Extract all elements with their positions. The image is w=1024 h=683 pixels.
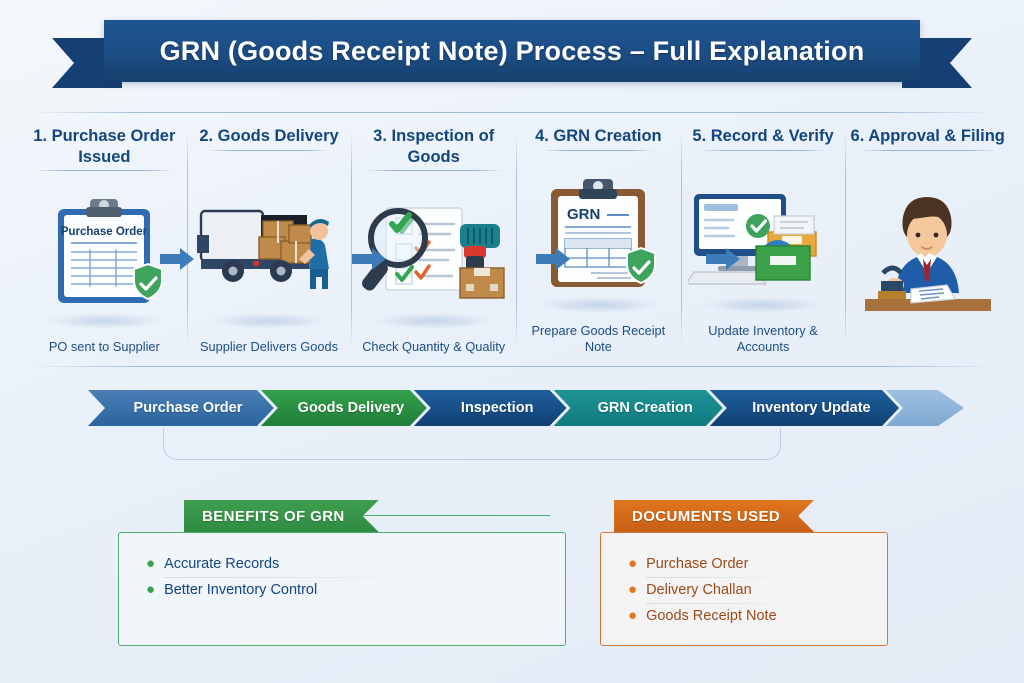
step-1-title: 1. Purchase Order Issued bbox=[26, 126, 183, 171]
cardboard-box bbox=[460, 268, 504, 298]
documents-panel: DOCUMENTS USED ● Purchase Order ● Delive… bbox=[600, 518, 888, 646]
step-arrow-1-to-2 bbox=[160, 248, 194, 270]
list-item: ● Delivery Challan bbox=[628, 578, 872, 604]
page-title: GRN (Goods Receipt Note) Process – Full … bbox=[160, 36, 865, 67]
clipboard-purchase-order-icon: Purchase Order bbox=[38, 197, 170, 309]
shadow-ellipse bbox=[208, 313, 330, 329]
divider-top bbox=[28, 112, 996, 113]
step-2-title: 2. Goods Delivery bbox=[199, 126, 338, 151]
chevron-label: GRN Creation bbox=[584, 400, 693, 416]
benefits-panel-tab: BENEFITS OF GRN bbox=[184, 500, 379, 532]
bullet-icon: ● bbox=[628, 556, 637, 571]
ribbon-body: GRN (Goods Receipt Note) Process – Full … bbox=[104, 20, 920, 82]
svg-text:Purchase Order: Purchase Order bbox=[61, 226, 148, 238]
title-banner: GRN (Goods Receipt Note) Process – Full … bbox=[52, 12, 972, 88]
delivery-truck-icon bbox=[193, 191, 345, 295]
list-item-label: Delivery Challan bbox=[646, 582, 752, 598]
step-arrow-4-to-5 bbox=[706, 248, 740, 270]
chevron-inspection[interactable]: Inspection bbox=[414, 390, 567, 426]
list-item-label: Goods Receipt Note bbox=[646, 608, 777, 624]
chevron-inventory-update[interactable]: Inventory Update bbox=[710, 390, 899, 426]
step-arrow-3-to-4 bbox=[536, 248, 570, 270]
step-6-illustration bbox=[849, 151, 1006, 350]
benefits-tab-label: BENEFITS OF GRN bbox=[202, 508, 345, 525]
keyboard bbox=[688, 272, 766, 284]
process-steps-row: 1. Purchase Order Issued Purchase Order bbox=[22, 126, 1010, 354]
divider-middle bbox=[28, 366, 996, 367]
list-item: ● Purchase Order bbox=[628, 552, 872, 578]
chevron-label: Purchase Order bbox=[120, 400, 243, 416]
step-1-caption: PO sent to Supplier bbox=[49, 335, 160, 354]
grn-doc-label: GRN bbox=[567, 206, 600, 223]
clipboard-grn-icon: GRN bbox=[531, 177, 665, 293]
step-4-illustration: GRN bbox=[520, 151, 677, 320]
step-4-grn-creation: 4. GRN Creation GRN bbox=[516, 126, 681, 354]
chevron-purchase-order[interactable]: Purchase Order bbox=[88, 390, 274, 426]
chevron-label: Goods Delivery bbox=[284, 400, 404, 416]
shadow-ellipse bbox=[537, 297, 659, 313]
filing-box-green bbox=[756, 240, 810, 280]
documents-list: ● Purchase Order ● Delivery Challan ● Go… bbox=[628, 552, 872, 630]
step-3-inspection-of-goods: 3. Inspection of Goods bbox=[351, 126, 516, 354]
step-6-title: 6. Approval & Filing bbox=[851, 126, 1005, 151]
step-2-goods-delivery: 2. Goods Delivery bbox=[187, 126, 352, 354]
list-item-label: Purchase Order bbox=[646, 556, 748, 572]
documents-panel-tab: DOCUMENTS USED bbox=[614, 500, 814, 532]
process-flow-chevrons: Purchase Order Goods Delivery Inspection… bbox=[88, 390, 964, 426]
benefits-panel: BENEFITS OF GRN ● Accurate Records ● Bet… bbox=[118, 518, 566, 646]
step-5-caption: Update Inventory & Accounts bbox=[685, 319, 842, 354]
monitor-filing-boxes-icon bbox=[688, 180, 838, 290]
list-item: ● Goods Receipt Note bbox=[628, 604, 872, 630]
step-2-illustration bbox=[191, 151, 348, 335]
chevron-label: Inspection bbox=[447, 400, 534, 416]
step-3-title: 3. Inspection of Goods bbox=[355, 126, 512, 171]
bullet-icon: ● bbox=[146, 556, 155, 571]
officer-stamping-icon bbox=[865, 189, 991, 311]
step-2-caption: Supplier Delivers Goods bbox=[200, 335, 338, 354]
step-3-caption: Check Quantity & Quality bbox=[362, 335, 505, 354]
step-4-caption: Prepare Goods Receipt Note bbox=[520, 319, 677, 354]
step-6-approval-and-filing: 6. Approval & Filing bbox=[845, 126, 1010, 354]
step-4-title: 4. GRN Creation bbox=[535, 126, 662, 151]
shadow-ellipse bbox=[43, 313, 165, 329]
list-item-label: Accurate Records bbox=[164, 556, 279, 572]
step-5-record-and-verify: 5. Record & Verify bbox=[681, 126, 846, 354]
flow-bracket-connector bbox=[163, 428, 781, 460]
chevron-grn-creation[interactable]: GRN Creation bbox=[554, 390, 723, 426]
list-item-label: Better Inventory Control bbox=[164, 582, 317, 598]
documents-tab-label: DOCUMENTS USED bbox=[632, 508, 780, 525]
step-1-purchase-order-issued: 1. Purchase Order Issued Purchase Order bbox=[22, 126, 187, 354]
chevron-goods-delivery[interactable]: Goods Delivery bbox=[261, 390, 427, 426]
list-item: ● Better Inventory Control bbox=[146, 578, 550, 604]
chevron-label: Inventory Update bbox=[738, 400, 870, 416]
bullet-icon: ● bbox=[628, 582, 637, 597]
shadow-ellipse bbox=[702, 297, 824, 313]
step-arrow-2-to-3 bbox=[352, 248, 386, 270]
step-5-title: 5. Record & Verify bbox=[692, 126, 833, 151]
bullet-icon: ● bbox=[146, 582, 155, 597]
step-5-illustration bbox=[685, 151, 842, 320]
bullet-icon: ● bbox=[628, 608, 637, 623]
benefits-list: ● Accurate Records ● Better Inventory Co… bbox=[146, 552, 550, 604]
shadow-ellipse bbox=[373, 313, 495, 329]
barcode-scanner bbox=[460, 224, 500, 272]
list-item: ● Accurate Records bbox=[146, 552, 550, 578]
